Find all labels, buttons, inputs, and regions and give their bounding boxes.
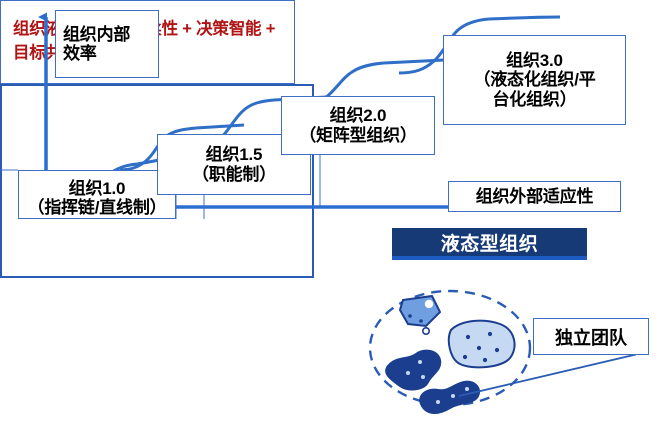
stage-1-title: 组织1.5	[192, 145, 276, 164]
stage-label-organization-3-0: 组织3.0 （液态化组织/平 台化组织）	[443, 35, 626, 125]
stage-3-title: 组织3.0	[473, 51, 595, 70]
stage-label-organization-2-0: 组织2.0 （矩阵型组织）	[281, 96, 435, 155]
liquid-panel-title-text: 液态型组织	[441, 229, 539, 256]
team-blob-4	[420, 382, 479, 413]
stage-1-subtitle: （职能制）	[192, 165, 276, 184]
stage-0-title: 组织1.0	[28, 179, 167, 198]
stage-2-title: 组织2.0	[299, 106, 417, 125]
team-blob-1	[400, 296, 440, 334]
stage-3-subtitle-line-2: 台化组织）	[473, 90, 595, 109]
independent-team-callout: 独立团队	[533, 318, 649, 355]
y-axis-label: 组织内部 效率	[55, 10, 159, 78]
stage-3-subtitle-line-1: （液态化组织/平	[473, 70, 595, 89]
team-blob-2	[449, 321, 515, 368]
liquid-panel-title: 液态型组织	[392, 228, 587, 260]
diagram-canvas: 组织内部 效率 组织外部适应性 组织1.0 （指挥链/直线制） 组织1.5 （职…	[0, 0, 661, 440]
y-axis-label-line-2: 效率	[63, 44, 130, 63]
x-axis-label-text: 组织外部适应性	[476, 187, 594, 206]
y-axis-label-line-1: 组织内部	[63, 25, 130, 44]
x-axis-label: 组织外部适应性	[448, 181, 621, 212]
stage-label-organization-1-0: 组织1.0 （指挥链/直线制）	[18, 170, 176, 219]
team-blob-3	[386, 351, 440, 390]
stage-2-subtitle: （矩阵型组织）	[299, 126, 417, 145]
independent-team-callout-text: 独立团队	[555, 324, 627, 350]
stage-0-subtitle: （指挥链/直线制）	[28, 198, 167, 217]
